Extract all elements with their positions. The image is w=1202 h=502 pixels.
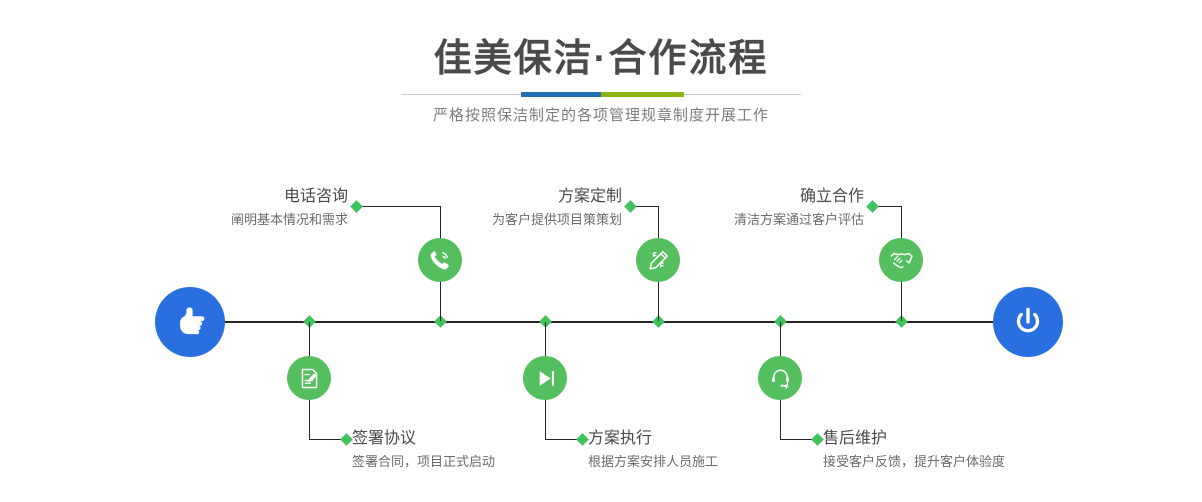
step-icon-circle-6[interactable] (758, 356, 802, 400)
step-desc-2: 签署合同，项目正式启动 (352, 452, 495, 472)
step-title-5: 确立合作 (510, 186, 864, 208)
step-label-5: 确立合作 清洁方案通过客户评估 (510, 186, 864, 230)
step-icon-circle-1[interactable] (418, 238, 462, 282)
step-desc-6: 接受客户反馈，提升客户体验度 (823, 452, 1005, 472)
step-icon-wrap-1[interactable] (418, 238, 462, 282)
label-marker-6 (811, 433, 824, 446)
step-title-6: 售后维护 (823, 428, 1005, 450)
handshake-icon (888, 247, 914, 273)
pencil-design-icon (646, 248, 671, 273)
play-execute-icon (533, 366, 558, 391)
step-icon-circle-2[interactable] (287, 356, 331, 400)
hand-point-right-icon (171, 303, 209, 341)
step-icon-wrap-2[interactable] (287, 356, 331, 400)
phone-call-icon (427, 247, 453, 273)
step-desc-4: 根据方案安排人员施工 (588, 452, 718, 472)
timeline-end-node[interactable] (993, 287, 1063, 357)
step-title-4: 方案执行 (588, 428, 718, 450)
step-icon-circle-4[interactable] (523, 356, 567, 400)
step-desc-5: 清洁方案通过客户评估 (510, 210, 864, 230)
step-icon-wrap-4[interactable] (523, 356, 567, 400)
step-icon-circle-3[interactable] (636, 238, 680, 282)
label-marker-4 (576, 433, 589, 446)
timeline-axis (160, 321, 1042, 323)
document-sign-icon (297, 366, 322, 391)
customer-service-icon (768, 366, 793, 391)
label-marker-5 (866, 200, 879, 213)
step-icon-wrap-6[interactable] (758, 356, 802, 400)
step-icon-wrap-5[interactable] (879, 238, 923, 282)
step-label-4: 方案执行 根据方案安排人员施工 (588, 428, 718, 472)
timeline-start-node[interactable] (155, 287, 225, 357)
power-icon (1009, 303, 1047, 341)
label-marker-2 (340, 433, 353, 446)
step-label-2: 签署协议 签署合同，项目正式启动 (352, 428, 495, 472)
step-title-2: 签署协议 (352, 428, 495, 450)
process-timeline: 电话咨询 阐明基本情况和需求 签署协议 (0, 0, 1202, 502)
step-icon-circle-5[interactable] (879, 238, 923, 282)
step-label-6: 售后维护 接受客户反馈，提升客户体验度 (823, 428, 1005, 472)
step-icon-wrap-3[interactable] (636, 238, 680, 282)
